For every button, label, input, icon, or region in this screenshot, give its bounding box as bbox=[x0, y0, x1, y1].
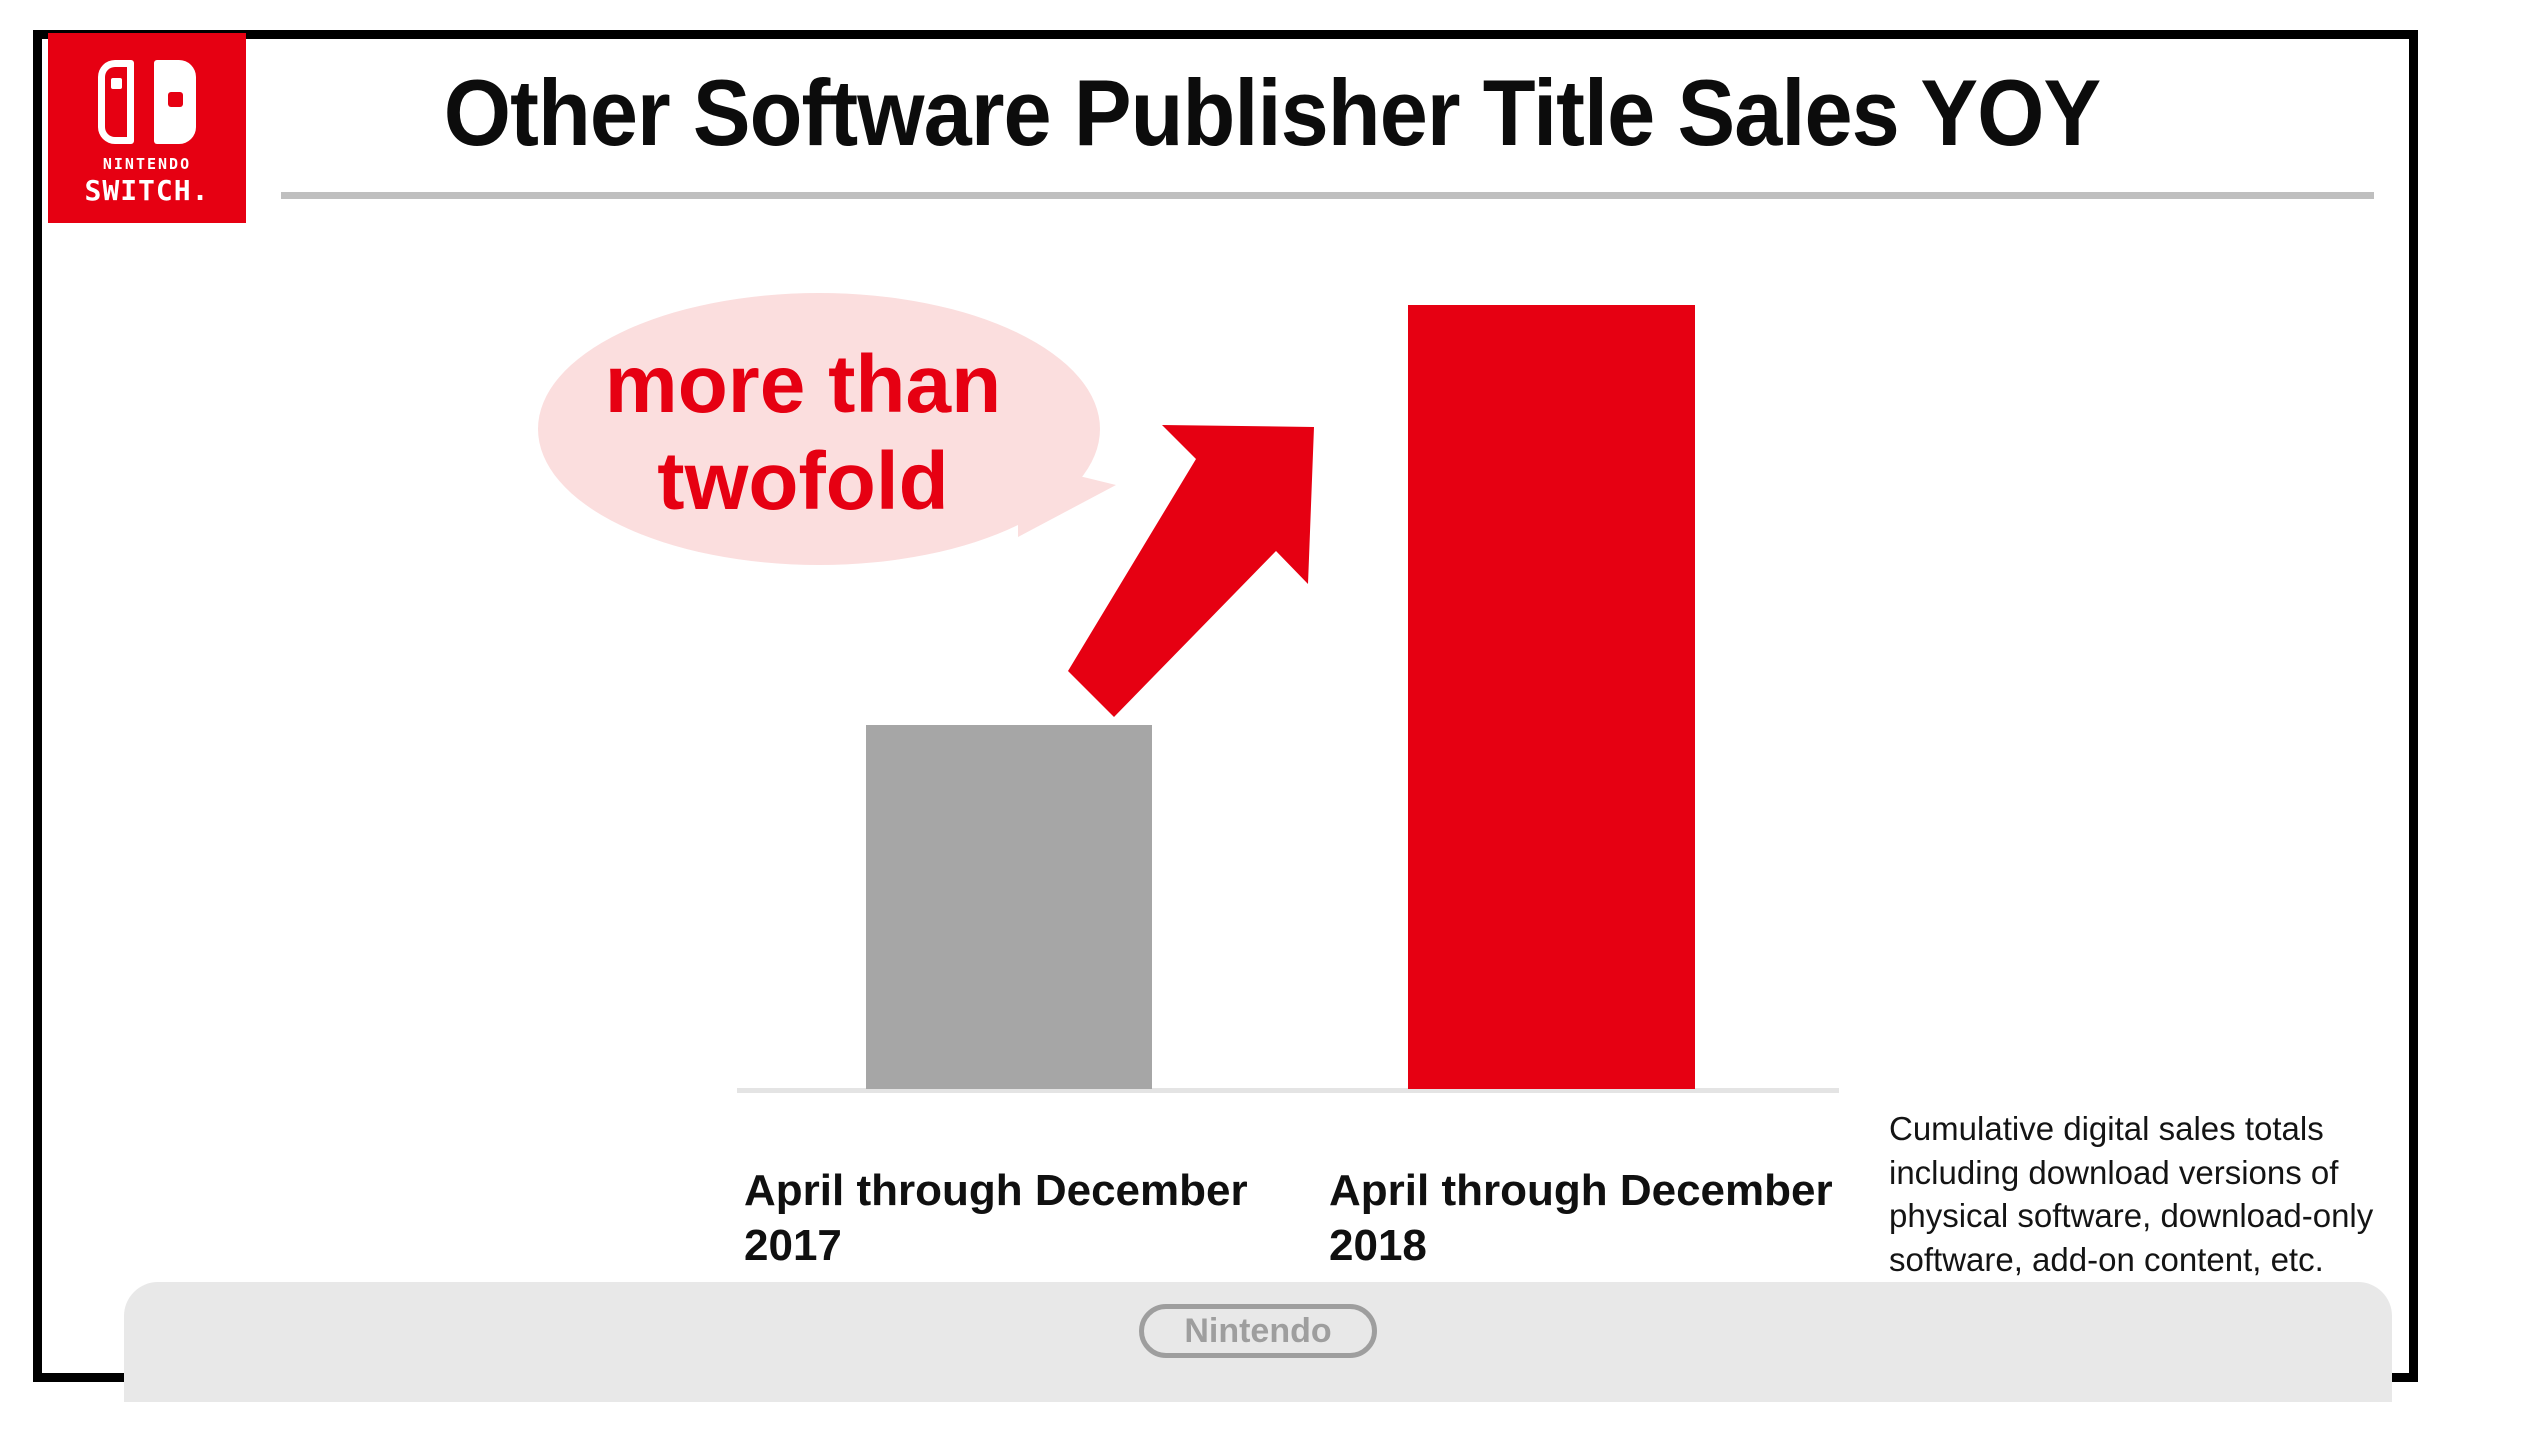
callout-text: more than twofold bbox=[538, 337, 1068, 531]
bar-2017 bbox=[866, 725, 1152, 1089]
nintendo-switch-logo: NINTENDO SWITCH. bbox=[48, 33, 246, 223]
joycon-icon bbox=[98, 60, 196, 148]
nintendo-logo-text: Nintendo bbox=[1184, 1314, 1331, 1348]
joycon-left-stick-icon bbox=[111, 78, 122, 89]
switch-wordmark-nintendo: NINTENDO bbox=[48, 157, 246, 172]
joycon-left-icon bbox=[98, 60, 134, 144]
bar-label-2017: April through December 2017 bbox=[744, 1163, 1304, 1273]
title-divider bbox=[281, 192, 2374, 199]
bar-label-2017-line2: 2017 bbox=[744, 1218, 1304, 1273]
bar-label-2018-line1: April through December bbox=[1329, 1163, 1889, 1218]
slide-canvas: NINTENDO SWITCH. Other Software Publishe… bbox=[42, 39, 2427, 1391]
joycon-right-icon bbox=[154, 60, 196, 144]
bar-label-2018: April through December 2018 bbox=[1329, 1163, 1889, 1273]
bar-2018 bbox=[1408, 305, 1695, 1089]
nintendo-logo: Nintendo bbox=[1139, 1304, 1377, 1358]
footnote-body: Cumulative digital sales totals includin… bbox=[1889, 1107, 2429, 1281]
callout-text-line2: twofold bbox=[538, 434, 1068, 531]
callout-text-line1: more than bbox=[538, 337, 1068, 434]
upward-trend-arrow-icon bbox=[1062, 399, 1382, 729]
slide-footer: Nintendo bbox=[124, 1282, 2392, 1402]
callout-speech-bubble: more than twofold bbox=[538, 293, 1100, 565]
bar-label-2018-line2: 2018 bbox=[1329, 1218, 1889, 1273]
bar-label-2017-line1: April through December bbox=[744, 1163, 1304, 1218]
page-title: Other Software Publisher Title Sales YOY bbox=[297, 57, 2247, 170]
slide-frame: NINTENDO SWITCH. Other Software Publishe… bbox=[33, 30, 2418, 1382]
switch-wordmark-switch: SWITCH. bbox=[48, 177, 246, 205]
joycon-right-stick-icon bbox=[168, 92, 183, 107]
